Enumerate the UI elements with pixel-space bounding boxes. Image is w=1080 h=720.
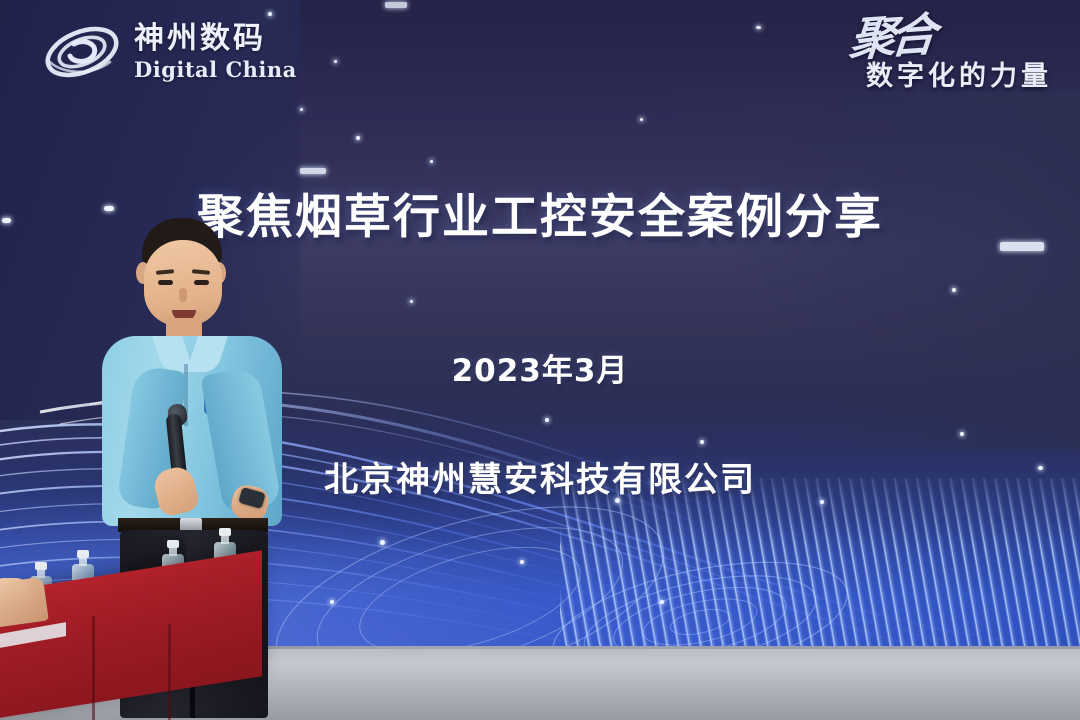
particle-dot: [640, 118, 643, 121]
logo-name-cn: 神州数码: [134, 24, 297, 54]
speaker-nose: [179, 288, 187, 302]
particle-dot: [660, 600, 664, 604]
particle-dot: [410, 300, 413, 303]
speaker-eye-right: [194, 280, 209, 285]
particle-dot: [545, 418, 549, 422]
particle-dot: [952, 288, 956, 292]
particle-dot: [330, 600, 334, 604]
particle-dot: [520, 560, 524, 564]
screenshot-root: 神州数码 Digital China 聚合 数字化的力量 聚焦烟草行业工控安全案…: [0, 0, 1080, 720]
bottle-cap: [219, 528, 231, 536]
screen-light-bar: [300, 168, 326, 174]
particle-dot: [300, 108, 303, 111]
particle-dot: [268, 12, 272, 16]
particle-dot: [960, 432, 964, 436]
table-cloth-fold: [92, 616, 95, 720]
particle-dot: [756, 26, 761, 29]
particle-dot: [430, 160, 433, 163]
speaker-eye-left: [158, 280, 173, 285]
screen-light-bar: [385, 2, 407, 8]
bottle-cap: [167, 540, 179, 548]
bottle-cap: [35, 562, 47, 570]
particle-dot: [356, 136, 360, 140]
particle-dot: [700, 440, 704, 444]
brand-calligraphy: 聚合: [848, 13, 932, 61]
spiral-galaxy-swoosh-icon: [40, 18, 124, 86]
particle-dot: [334, 60, 337, 63]
digital-china-logo: 神州数码 Digital China: [40, 18, 297, 86]
event-brandmark: 聚合 数字化的力量: [850, 16, 1052, 93]
attendee-hand: [0, 578, 30, 608]
particle-dot: [380, 540, 385, 545]
logo-name-en: Digital China: [134, 59, 297, 80]
bottle-cap: [77, 550, 89, 558]
table-cloth-fold: [168, 624, 171, 720]
